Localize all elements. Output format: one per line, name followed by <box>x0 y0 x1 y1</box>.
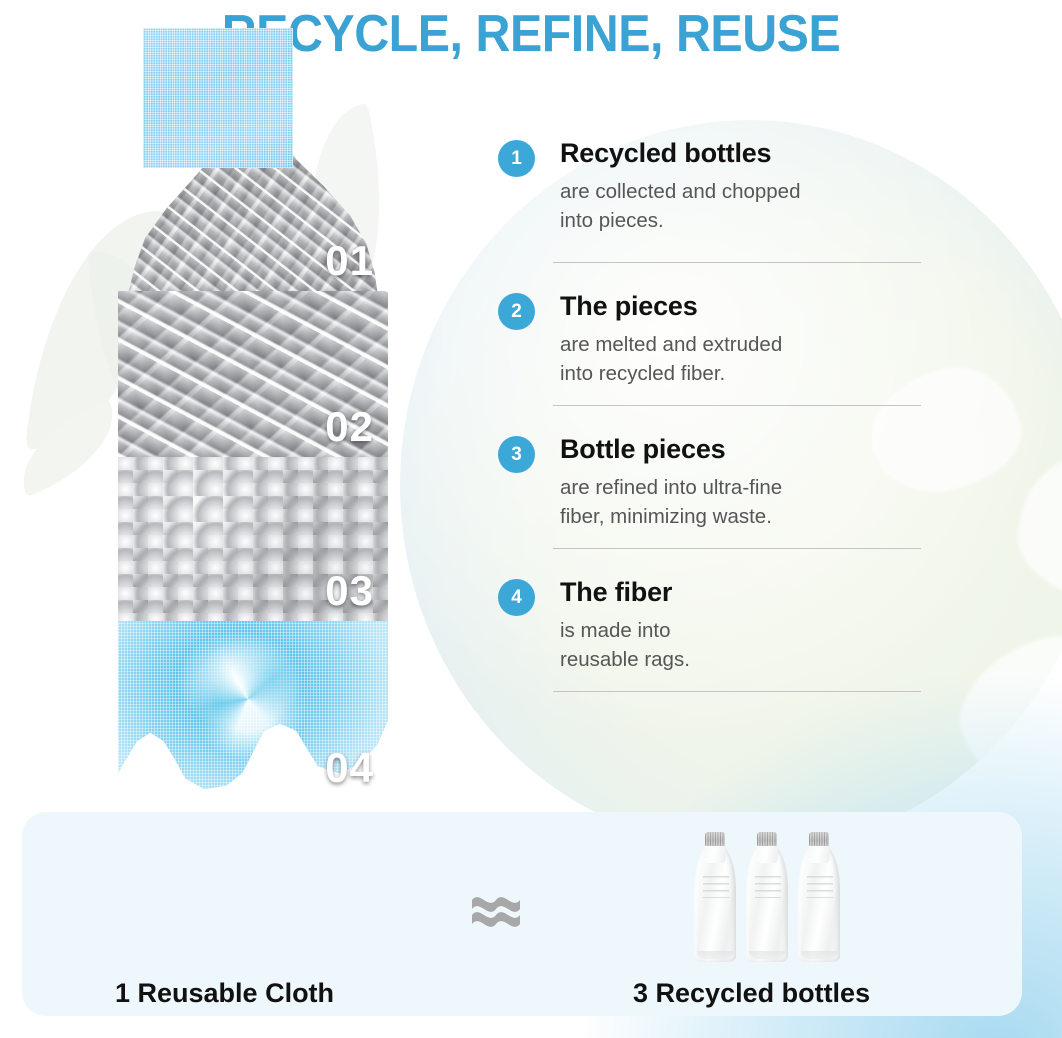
segment-number-01: 01 <box>325 237 374 285</box>
step-body: Bottle pieces are refined into ultra-fin… <box>560 434 938 531</box>
step-divider <box>553 405 921 406</box>
mini-bottle-cap <box>809 832 829 846</box>
mini-bottle-base <box>697 951 733 959</box>
step-title-3: Bottle pieces <box>560 434 938 466</box>
step-body: Recycled bottles are collected and chopp… <box>560 138 938 235</box>
cloth-swatch-image <box>143 28 293 168</box>
step-title-1: Recycled bottles <box>560 138 938 170</box>
step-body: The fiber is made into reusable rags. <box>560 577 938 674</box>
cloth-label: 1 Reusable Cloth <box>115 978 334 1009</box>
mini-bottle-base <box>801 951 837 959</box>
step-title-4: The fiber <box>560 577 938 609</box>
mini-bottle <box>798 832 840 962</box>
approximately-equal-icon <box>468 886 524 932</box>
segment-number-03: 03 <box>325 567 374 615</box>
step-desc-line: are melted and extruded <box>560 330 938 359</box>
step-badge-2: 2 <box>498 293 535 330</box>
step-desc-line: reusable rags. <box>560 645 938 674</box>
infographic-page: RECYCLE, REFINE, REUSE 01 02 03 04 1 <box>0 0 1062 1038</box>
step-badge-4: 4 <box>498 579 535 616</box>
mini-bottle-cap <box>757 832 777 846</box>
mini-bottle <box>746 832 788 962</box>
step-divider <box>553 548 921 549</box>
process-step-list: 1 Recycled bottles are collected and cho… <box>498 138 938 692</box>
mini-bottle-cap <box>705 832 725 846</box>
step-desc-line: are collected and chopped <box>560 177 938 206</box>
process-step-4: 4 The fiber is made into reusable rags. <box>498 577 938 674</box>
step-badge-1: 1 <box>498 140 535 177</box>
step-description-3: are refined into ultra-fine fiber, minim… <box>560 473 938 531</box>
globe-landmass <box>1010 436 1062 624</box>
process-step-3: 3 Bottle pieces are refined into ultra-f… <box>498 434 938 531</box>
segment-number-02: 02 <box>325 403 374 451</box>
step-desc-line: into recycled fiber. <box>560 359 938 388</box>
mini-bottle-neck <box>808 843 830 863</box>
step-description-2: are melted and extruded into recycled fi… <box>560 330 938 388</box>
step-divider <box>553 262 921 263</box>
recycled-bottles-image <box>694 832 840 962</box>
step-body: The pieces are melted and extruded into … <box>560 291 938 388</box>
step-badge-3: 3 <box>498 436 535 473</box>
step-desc-line: is made into <box>560 616 938 645</box>
step-desc-line: into pieces. <box>560 206 938 235</box>
mini-bottle-rings <box>755 876 781 898</box>
step-description-1: are collected and chopped into pieces. <box>560 177 938 235</box>
mini-bottle-neck <box>756 843 778 863</box>
mini-bottle-rings <box>807 876 833 898</box>
process-step-2: 2 The pieces are melted and extruded int… <box>498 291 938 388</box>
bottle-segment-04: 04 <box>118 621 388 798</box>
globe-landmass <box>941 613 1062 806</box>
mini-bottle-base <box>749 951 785 959</box>
bottle-diagram: 01 02 03 04 <box>118 103 388 798</box>
mini-bottle <box>694 832 736 962</box>
leaf-icon <box>5 399 131 497</box>
bottle-segment-02: 02 <box>118 291 388 457</box>
bottle-segment-03: 03 <box>118 457 388 621</box>
step-desc-line: fiber, minimizing waste. <box>560 502 938 531</box>
mini-bottle-neck <box>704 843 726 863</box>
mini-bottle-rings <box>703 876 729 898</box>
step-description-4: is made into reusable rags. <box>560 616 938 674</box>
bottles-label: 3 Recycled bottles <box>633 978 870 1009</box>
step-desc-line: are refined into ultra-fine <box>560 473 938 502</box>
cloth-swirl <box>188 639 308 759</box>
process-step-1: 1 Recycled bottles are collected and cho… <box>498 138 938 245</box>
segment-number-04: 04 <box>325 744 374 792</box>
step-title-2: The pieces <box>560 291 938 323</box>
step-divider <box>553 691 921 692</box>
